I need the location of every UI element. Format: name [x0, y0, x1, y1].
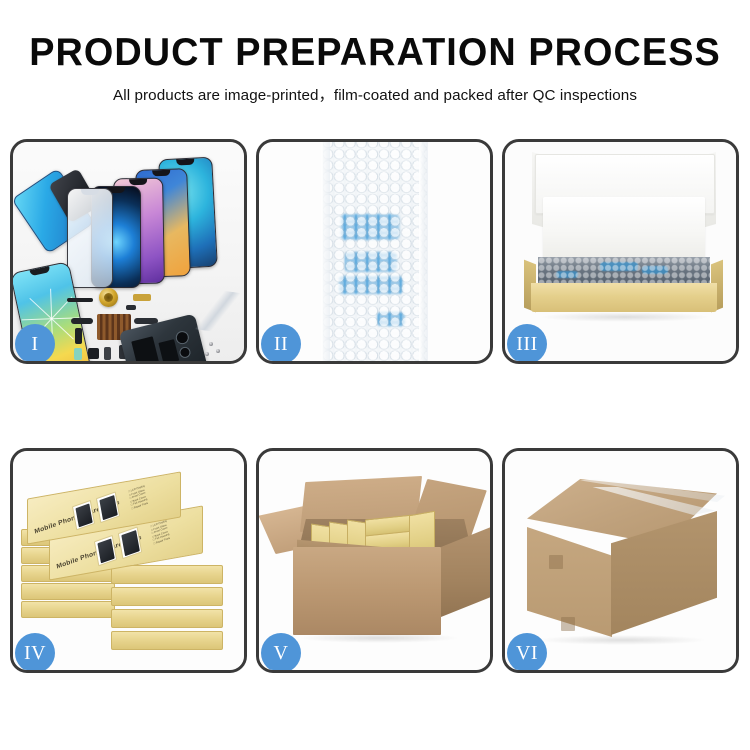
tweezers-icon	[188, 287, 244, 336]
bubble-wrap-highlight-icon	[323, 144, 427, 362]
sim-tray-icon	[104, 347, 111, 360]
retail-box-stack-icon: Mobile Phone Spare Parts □ LCD Display □…	[19, 467, 244, 667]
speaker-coil-icon	[99, 288, 118, 307]
carton-mark-lower-icon	[561, 617, 575, 631]
process-step-panel-6: VI	[502, 448, 739, 673]
step-badge-3: III	[507, 324, 547, 364]
gold-connector-icon	[133, 294, 151, 301]
step-badge-6: VI	[507, 633, 547, 673]
step-badge-5: V	[261, 633, 301, 673]
process-step-panel-3: III	[502, 139, 739, 364]
process-step-panel-5: V	[256, 448, 493, 673]
camera-module-icon	[88, 348, 99, 359]
carton-shadow	[299, 633, 459, 643]
process-step-panel-4: Mobile Phone Spare Parts □ LCD Display □…	[10, 448, 247, 673]
step-badge-1: I	[15, 324, 55, 364]
box-shadow	[539, 312, 711, 322]
process-step-grid: I II	[10, 139, 740, 673]
flex-strip-icon	[67, 298, 93, 302]
vibrator-icon	[75, 328, 82, 344]
product-preparation-infographic: PRODUCT PREPARATION PROCESS All products…	[0, 0, 750, 750]
small-chip-icon	[126, 305, 136, 310]
process-step-panel-2: II	[256, 139, 493, 364]
step-badge-4: IV	[15, 633, 55, 673]
carton-front-panel-icon	[293, 547, 441, 635]
carton-shadow	[537, 635, 707, 645]
page-title: PRODUCT PREPARATION PROCESS	[11, 32, 739, 74]
film-edge-right-icon	[419, 142, 428, 361]
film-edge-left-icon	[321, 142, 330, 361]
battery-icon	[74, 348, 82, 360]
header: PRODUCT PREPARATION PROCESS All products…	[0, 32, 750, 105]
process-step-panel-1: I	[10, 139, 247, 364]
page-subtitle: All products are image-printed，film-coat…	[0, 83, 750, 105]
box-front-panel-icon	[531, 283, 717, 312]
step-badge-2: II	[261, 324, 301, 364]
flex-cable-icon	[71, 318, 93, 324]
packed-products-icon	[538, 257, 710, 285]
foam-sheet-icon	[543, 197, 705, 259]
carton-mark-upper-icon	[549, 555, 563, 569]
